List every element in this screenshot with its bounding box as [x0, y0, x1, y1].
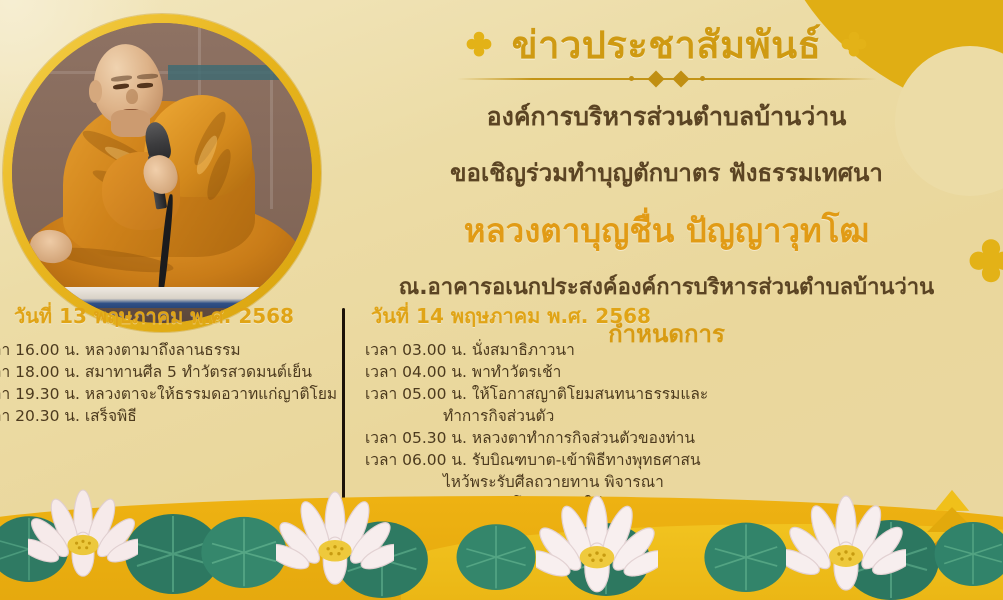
monk-name: หลวงตาบุญชื่น ปัญญาวุทโฒ: [330, 204, 1003, 257]
entry-main: เวลา 06.00 น. รับบิณฑบาต-เข้าพิธีทางพุทธ…: [365, 451, 701, 469]
divider-dot: [629, 76, 634, 81]
event-poster: ข่าวประชาสัมพันธ์ องค์การบริหารส่วนตำบลบ…: [0, 0, 1003, 600]
page-title: ข่าวประชาสัมพันธ์: [512, 26, 822, 66]
schedule-column-day2: วันที่ 14 พฤษภาคม พ.ศ. 2568 เวลา 03.00 น…: [357, 300, 703, 515]
schedule: วันที่ 13 พฤษภาคม พ.ศ. 2568 เวลา 16.00 น…: [0, 300, 989, 520]
day1-heading: วันที่ 13 พฤษภาคม พ.ศ. 2568: [0, 300, 330, 332]
divider-gem: [672, 70, 689, 87]
schedule-column-day1: วันที่ 13 พฤษภาคม พ.ศ. 2568 เวลา 16.00 น…: [0, 300, 338, 427]
schedule-entry: เวลา 20.30 น. เสร็จพิธี: [0, 405, 330, 427]
title-divider-ornament: [457, 71, 877, 87]
quatrefoil-icon: [839, 31, 869, 61]
entry-continuation: ไหว้พระรับศีลถวายทาน พิจารณา: [365, 471, 695, 493]
day1-entries: เวลา 16.00 น. หลวงตามาถึงลานธรรม เวลา 18…: [0, 339, 330, 427]
monk-neck: [111, 110, 150, 137]
schedule-entry: เวลา 19.30 น. หลวงตาจะให้ธรรมดอวาทแก่ญาต…: [0, 383, 330, 405]
schedule-entry: เวลา 18.00 น. สมาทานศีล 5 ทำวัตรสวดมนต์เ…: [0, 361, 330, 383]
entry-continuation: ทำการกิจส่วนตัว: [365, 405, 695, 427]
day2-heading: วันที่ 14 พฤษภาคม พ.ศ. 2568: [365, 300, 695, 332]
column-divider: [342, 308, 345, 520]
wall-teal-band: [168, 65, 300, 80]
divider-bar: [457, 78, 877, 80]
quatrefoil-icon: [464, 31, 494, 61]
monk-photo: [12, 23, 312, 323]
venue-line: ณ.อาคารอเนกประสงค์องค์การบริหารส่วนตำบลบ…: [330, 269, 1003, 304]
schedule-entry: เวลา 05.30 น. หลวงตาทำการกิจส่วนตัวของท่…: [365, 427, 695, 449]
schedule-entry: เวลา 06.00 น. รับบิณฑบาต-เข้าพิธีทางพุทธ…: [365, 449, 695, 515]
headline-row: ข่าวประชาสัมพันธ์: [330, 26, 1003, 66]
organization-name: องค์การบริหารส่วนตำบลบ้านว่าน: [330, 97, 1003, 137]
lotus-leaf-icon: [196, 508, 292, 588]
monk-ear: [89, 80, 103, 103]
schedule-entry: เวลา 16.00 น. หลวงตามาถึงลานธรรม: [0, 339, 330, 361]
entry-main: เวลา 05.00 น. ให้โอกาสญาติโยมสนทนาธรรมแล…: [365, 385, 708, 403]
entry-continuation: อาหาร อนุโมทนาบุญให้พร: [365, 493, 695, 515]
schedule-entry: เวลา 04.00 น. พาทำวัตรเช้า: [365, 361, 695, 383]
monk-nose: [126, 89, 138, 104]
day2-entries: เวลา 03.00 น. นั่งสมาธิภาวนา เวลา 04.00 …: [365, 339, 695, 515]
monk-portrait-art: [12, 23, 312, 323]
divider-dot: [700, 76, 705, 81]
quatrefoil-icon: [965, 238, 1003, 290]
divider-gem: [647, 70, 664, 87]
schedule-entry: เวลา 05.00 น. ให้โอกาสญาติโยมสนทนาธรรมแล…: [365, 383, 695, 427]
schedule-entry: เวลา 03.00 น. นั่งสมาธิภาวนา: [365, 339, 695, 361]
wall-seam: [270, 23, 273, 209]
invitation-line: ขอเชิญร่วมทำบุญตักบาตร ฟังธรรมเทศนา: [330, 153, 1003, 192]
